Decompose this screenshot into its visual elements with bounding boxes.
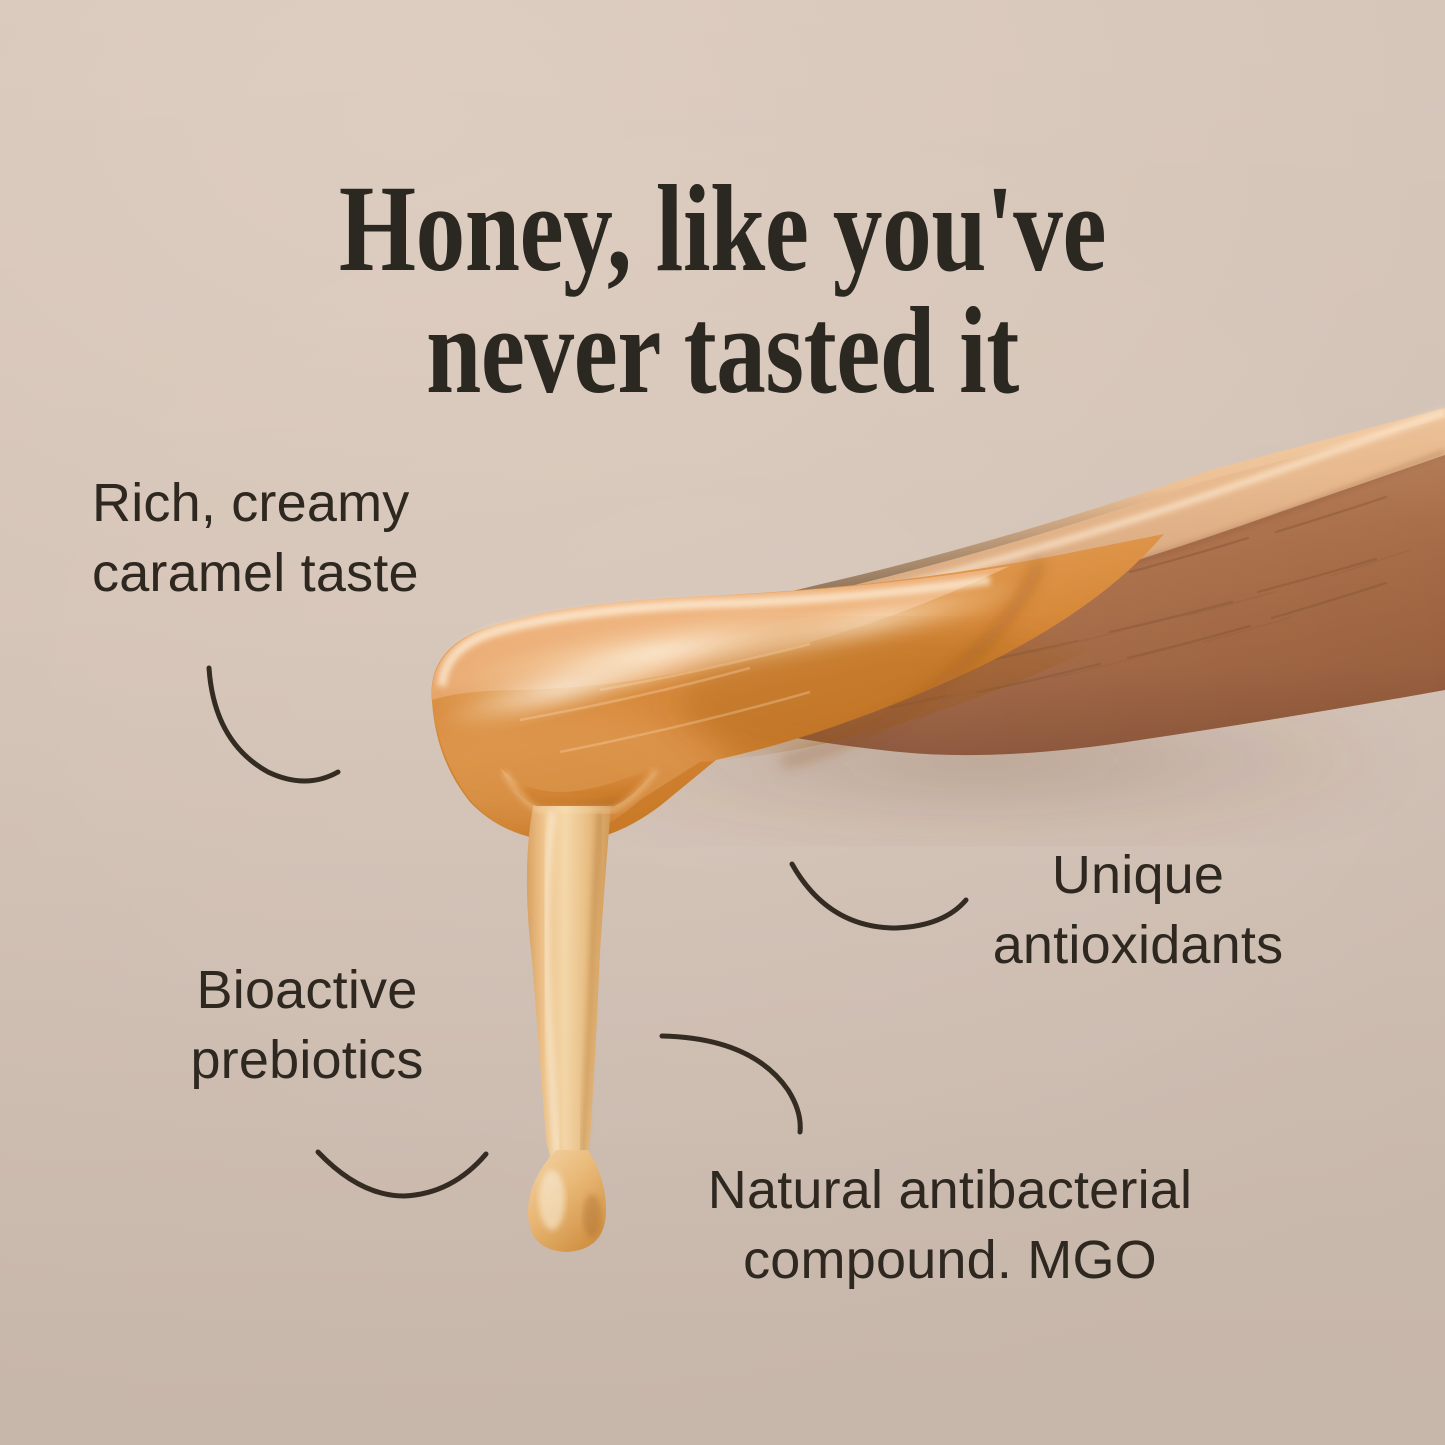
page-title: Honey, like you've never tasted it: [145, 168, 1301, 411]
feature-label-rich-creamy: Rich, creamy caramel taste: [92, 468, 419, 608]
headline-line-1: Honey, like you've: [339, 160, 1106, 297]
feature-label-prebiotics: Bioactive prebiotics: [162, 955, 452, 1095]
feature-label-antioxidants: Unique antioxidants: [948, 840, 1328, 980]
product-feature-banner: Honey, like you've never tasted it Rich,…: [0, 0, 1445, 1445]
headline-line-2: never tasted it: [145, 290, 1301, 412]
feature-label-mgo: Natural antibacterial compound. MGO: [660, 1155, 1240, 1295]
